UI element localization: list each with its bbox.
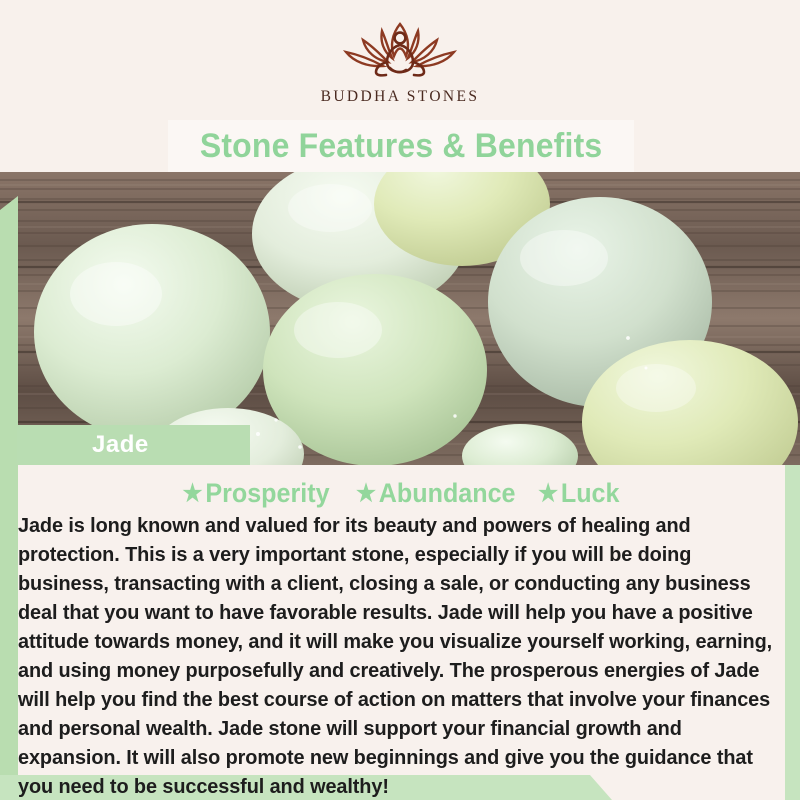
page-title: Stone Features & Benefits — [200, 127, 603, 166]
star-icon: ★ — [183, 479, 203, 508]
keyword-label: Luck — [561, 478, 620, 508]
star-icon: ★ — [539, 479, 559, 508]
title-banner: Stone Features & Benefits — [168, 120, 634, 172]
brand-logo: BUDDHA STONES — [0, 18, 800, 106]
infographic-page: BUDDHA STONES Stone Features & Benefits … — [0, 0, 800, 800]
stone-photo — [0, 172, 800, 465]
stone-name: Jade — [92, 431, 149, 459]
keyword-item-0: ★Prosperity — [183, 478, 330, 509]
keyword-item-2: ★Luck — [539, 478, 620, 509]
star-icon: ★ — [356, 479, 376, 508]
keyword-label: Abundance — [378, 478, 515, 508]
lotus-meditation-icon — [330, 18, 470, 82]
keyword-item-1: ★Abundance — [356, 478, 516, 509]
stone-name-bar: Jade — [17, 425, 250, 465]
description-text: Jade is long known and valued for its be… — [18, 512, 776, 800]
description-block: Jade is long known and valued for its be… — [18, 512, 776, 800]
brand-name: BUDDHA STONES — [321, 88, 480, 106]
keyword-label: Prosperity — [205, 478, 329, 508]
keyword-list: ★Prosperity ★Abundance ★Luck — [0, 478, 800, 509]
